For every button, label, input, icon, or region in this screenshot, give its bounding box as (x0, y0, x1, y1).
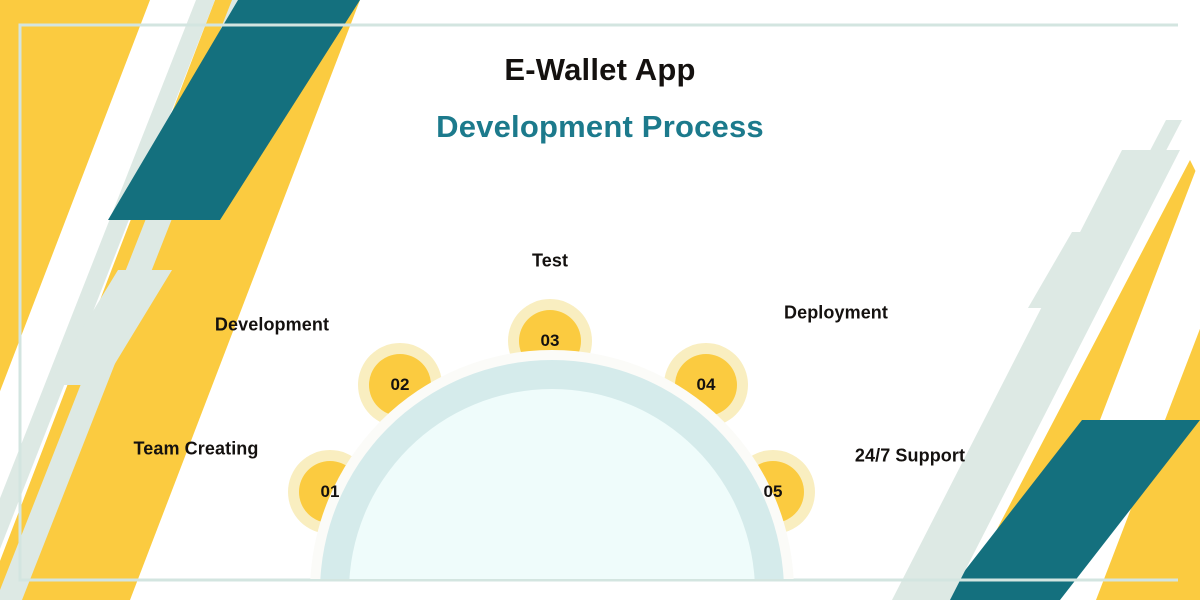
step-label-01: Team Creating (134, 439, 259, 460)
step-label-02: Development (215, 315, 329, 336)
process-arc-graphic (0, 0, 1200, 600)
infographic-canvas: E-Wallet App Development Process 01Team … (0, 0, 1200, 600)
step-label-05: 24/7 Support (855, 446, 965, 467)
step-label-04: Deployment (784, 303, 888, 324)
step-number-01: 01 (321, 482, 340, 502)
step-number-05: 05 (764, 482, 783, 502)
step-number-04: 04 (697, 375, 716, 395)
step-label-03: Test (532, 251, 568, 272)
step-number-03: 03 (541, 331, 560, 351)
step-number-02: 02 (391, 375, 410, 395)
